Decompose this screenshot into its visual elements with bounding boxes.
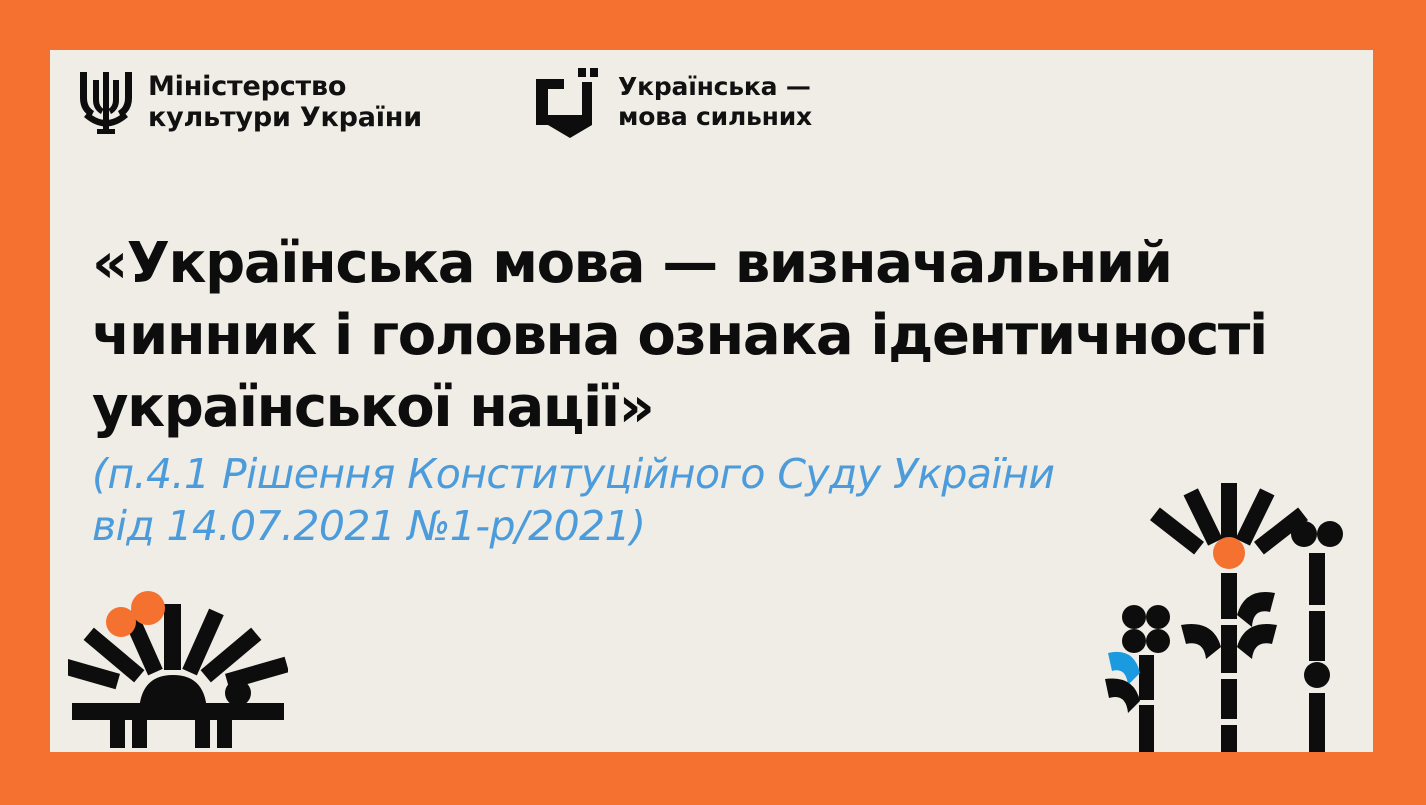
headline-line-3: української нації»	[92, 372, 1322, 444]
campaign-logo: Українська — мова сильних	[534, 66, 812, 138]
sun-fan-orange-circle-2	[131, 591, 165, 625]
sun-fan-leg-4	[217, 720, 232, 748]
slide: Міністерство культури України	[0, 0, 1426, 805]
sun-fan-baseline	[72, 703, 284, 720]
sun-fan-dot	[225, 680, 251, 706]
headline: «Українська мова — визначальний чинник і…	[92, 228, 1322, 444]
sun-fan-leg-1	[110, 720, 125, 748]
segmented-stem-with-two-dots	[1291, 521, 1343, 752]
ministry-of-culture-logo-text: Міністерство культури України	[148, 71, 422, 133]
headline-line-1: «Українська мова — визначальний	[92, 228, 1322, 300]
flower-center	[1213, 537, 1245, 569]
sun-fan-ornament	[68, 590, 288, 750]
ministry-of-culture-logo: Міністерство культури України	[78, 66, 422, 138]
campaign-logo-text: Українська — мова сильних	[618, 72, 812, 132]
tall-flower-with-orange-center	[1150, 483, 1308, 752]
slide-panel: Міністерство культури України	[50, 50, 1373, 752]
black-leaf	[1105, 678, 1140, 713]
subtitle-line-2: від 14.07.2021 №1-р/2021)	[92, 500, 1192, 552]
sun-fan-leg-2	[132, 720, 147, 748]
ukraine-trident-icon	[78, 66, 134, 138]
subtitle-line-1: (п.4.1 Рішення Конституційного Суду Укра…	[92, 448, 1192, 500]
small-plant-with-blue-leaf	[1105, 605, 1170, 752]
logo-row: Міністерство культури України	[78, 66, 812, 138]
stylized-plants-ornament	[1085, 465, 1365, 752]
yi-letter-mark-icon	[534, 66, 600, 138]
sun-fan-leg-3	[195, 720, 210, 748]
subtitle-citation: (п.4.1 Рішення Конституційного Суду Укра…	[92, 448, 1192, 552]
headline-line-2: чинник і головна ознака ідентичності	[92, 300, 1322, 372]
